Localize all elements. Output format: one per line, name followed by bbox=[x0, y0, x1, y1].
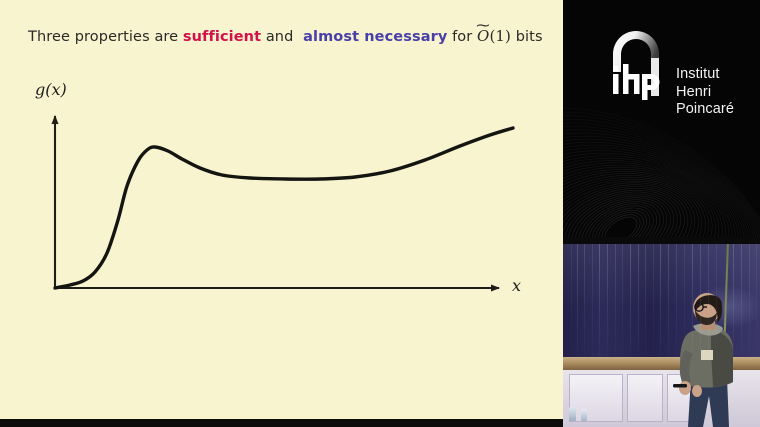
chalk-streak bbox=[599, 244, 600, 360]
function-plot bbox=[0, 0, 563, 419]
x-axis-label: x bbox=[512, 276, 521, 295]
laser-pointer bbox=[673, 384, 687, 388]
institution-logo-panel: Institut Henri Poincaré bbox=[563, 0, 760, 237]
chalk-streak bbox=[584, 244, 585, 360]
chalk-streak bbox=[607, 244, 608, 360]
chalk-streak bbox=[692, 244, 693, 360]
chalk-streak bbox=[577, 244, 578, 360]
chalk-streak bbox=[749, 244, 750, 360]
speaker-video-feed[interactable] bbox=[563, 237, 760, 427]
slide-letterbox-bar bbox=[0, 419, 563, 427]
chalk-streak bbox=[653, 244, 654, 360]
curve-gx bbox=[55, 128, 513, 288]
water-bottle-2 bbox=[581, 409, 587, 421]
presentation-slide: Three properties are sufficient and almo… bbox=[0, 0, 563, 419]
wall-panel-2 bbox=[627, 374, 663, 422]
chalk-streak bbox=[592, 244, 593, 360]
chalk-streak bbox=[733, 244, 734, 360]
chalk-streak bbox=[676, 244, 677, 360]
y-axis-label-arg: (x) bbox=[45, 80, 67, 99]
speaker-hand-right bbox=[692, 385, 702, 397]
chalk-streak bbox=[571, 244, 572, 360]
chalk-streak bbox=[756, 244, 757, 360]
chalk-streak bbox=[716, 244, 717, 360]
institution-name-line1: Institut bbox=[676, 66, 734, 84]
speaker-figure bbox=[671, 292, 749, 427]
institution-name: Institut Henri Poincaré bbox=[676, 66, 734, 119]
chalk-streak bbox=[684, 244, 685, 360]
chalk-streak bbox=[638, 244, 639, 360]
chalk-streak bbox=[700, 244, 701, 360]
chalk-streak bbox=[660, 244, 661, 360]
chalk-streak bbox=[708, 244, 709, 360]
chalk-streak bbox=[630, 244, 631, 360]
chalk-streak bbox=[615, 244, 616, 360]
institution-name-line3: Poincaré bbox=[676, 101, 734, 119]
y-axis-label-fn: g bbox=[35, 80, 45, 99]
water-bottle-1 bbox=[569, 407, 576, 421]
speaker-badge bbox=[701, 350, 713, 360]
institution-name-line2: Henri bbox=[676, 84, 734, 102]
y-axis-label: g(x) bbox=[35, 80, 67, 99]
wall-panel-1 bbox=[569, 374, 623, 422]
chalk-streak bbox=[622, 244, 623, 360]
ihp-arch-icon bbox=[611, 28, 675, 100]
chalk-streak bbox=[645, 244, 646, 360]
chalk-streak bbox=[668, 244, 669, 360]
chalk-streak bbox=[741, 244, 742, 360]
video-letterbox-strip bbox=[563, 237, 760, 244]
speaker-hand-left bbox=[679, 381, 691, 395]
screen: Three properties are sufficient and almo… bbox=[0, 0, 760, 427]
